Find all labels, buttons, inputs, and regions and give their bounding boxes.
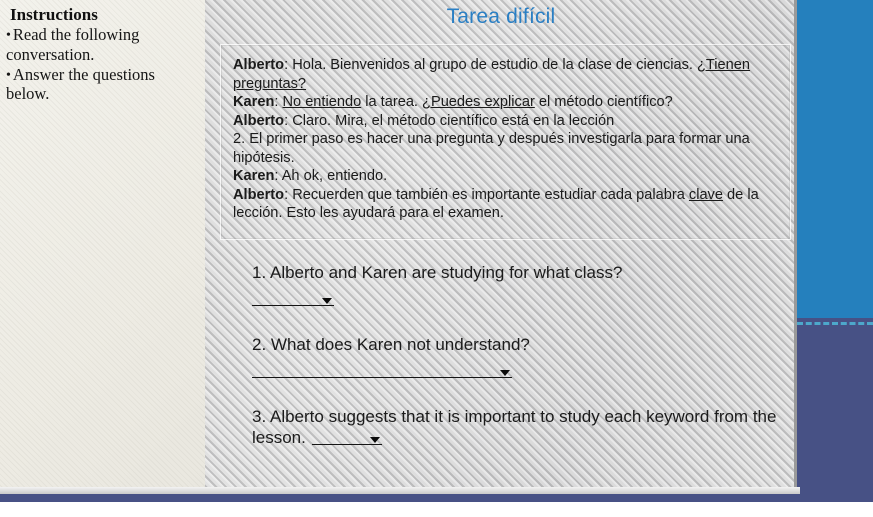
dialogue-text: Ah ok, entiendo. [282, 168, 387, 184]
question-item-2: 2. What does Karen not understand? [220, 334, 791, 381]
question-text: Alberto and Karen are studying for what … [270, 263, 622, 282]
questions-list: 1. Alberto and Karen are studying for wh… [220, 262, 791, 473]
slide-root: Instructions •Read the following convers… [0, 0, 873, 517]
answer-dropdown-2[interactable] [252, 362, 512, 378]
bullet-icon: • [6, 28, 11, 43]
speaker-sep: : [284, 187, 292, 203]
chevron-down-icon[interactable] [322, 298, 332, 304]
dialogue-text: 2. El primer paso es hacer una pregunta … [233, 131, 750, 166]
question-item-3: 3. Alberto suggests that it is important… [220, 406, 791, 448]
conversation-line: Alberto: Hola. Bienvenidos al grupo de e… [233, 56, 780, 93]
question-text: What does Karen not understand? [271, 335, 530, 354]
bullet-icon: • [6, 68, 11, 83]
question-label-1: 1. Alberto and Karen are studying for wh… [252, 262, 791, 283]
dialogue-text: el método científico? [535, 94, 673, 110]
question-item-1: 1. Alberto and Karen are studying for wh… [220, 262, 791, 309]
conversation-line: Alberto: Claro. Mira, el método científi… [233, 112, 780, 131]
chevron-down-icon[interactable] [500, 370, 510, 376]
answer-row-1 [252, 290, 791, 309]
question-label-3: 3. Alberto suggests that it is important… [252, 406, 791, 448]
speaker-name: Alberto [233, 187, 284, 203]
dialogue-text: la tarea. [361, 94, 422, 110]
answer-dropdown-3[interactable] [312, 429, 382, 445]
dialogue-text-underlined: clave [689, 187, 723, 203]
right-panel-lower-block [797, 318, 873, 497]
dialogue-text-underlined: No entiendo [282, 94, 361, 110]
question-number: 3. [252, 407, 266, 426]
speaker-sep: : [284, 113, 292, 129]
question-label-2: 2. What does Karen not understand? [252, 334, 791, 355]
instructions-panel: Instructions •Read the following convers… [0, 0, 205, 490]
dialogue-text: Claro. Mira, el método científico está e… [292, 113, 614, 129]
bottom-accent-bar [0, 494, 873, 502]
right-panel-upper-block [797, 0, 873, 318]
dialogue-text: Hola. Bienvenidos al grupo de estudio de… [292, 57, 697, 73]
instruction-text-2: Answer the questions below. [6, 65, 155, 104]
dialogue-text: Recuerden que también es importante estu… [292, 187, 689, 203]
instructions-list: •Read the following conversation. •Answe… [6, 25, 193, 104]
instruction-text-1: Read the following conversation. [6, 25, 139, 64]
answer-row-2 [252, 362, 791, 381]
instruction-item-2: •Answer the questions below. [6, 65, 193, 104]
right-panel-dashed-divider [797, 322, 873, 325]
conversation-box: Alberto: Hola. Bienvenidos al grupo de e… [220, 44, 791, 240]
speaker-name: Karen [233, 94, 274, 110]
conversation-line: Alberto: Recuerden que también es import… [233, 186, 780, 223]
question-number: 1. [252, 263, 266, 282]
instructions-title: Instructions [10, 6, 193, 24]
bottom-bevel-strip [0, 487, 800, 494]
speaker-name: Karen [233, 168, 274, 184]
instruction-item-1: •Read the following conversation. [6, 25, 193, 64]
chevron-down-icon[interactable] [370, 437, 380, 443]
conversation-line: 2. El primer paso es hacer una pregunta … [233, 130, 780, 167]
speaker-name: Alberto [233, 57, 284, 73]
speaker-name: Alberto [233, 113, 284, 129]
question-number: 2. [252, 335, 266, 354]
conversation-line: Karen: Ah ok, entiendo. [233, 167, 780, 186]
speaker-sep: : [284, 57, 292, 73]
answer-dropdown-1[interactable] [252, 290, 334, 306]
speaker-sep: : [274, 168, 281, 184]
right-side-panel [797, 0, 873, 497]
dialogue-text-underlined: ¿Puedes explicar [422, 94, 535, 110]
main-content-panel: Tarea difícil Alberto: Hola. Bienvenidos… [205, 0, 797, 490]
page-title: Tarea difícil [205, 5, 797, 29]
conversation-line: Karen: No entiendo la tarea. ¿Puedes exp… [233, 93, 780, 112]
bottom-white-area [0, 502, 873, 517]
